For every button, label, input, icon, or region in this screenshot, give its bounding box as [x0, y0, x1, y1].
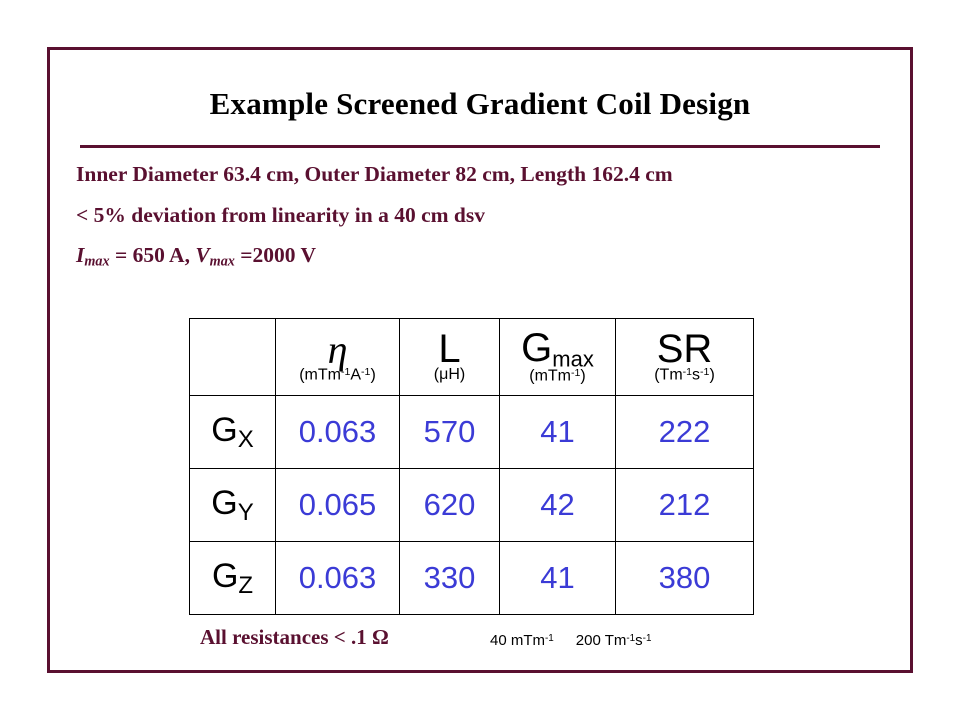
- slide-frame: Example Screened Gradient Coil Design In…: [47, 47, 913, 673]
- bullet3-i-value: = 650 A,: [110, 243, 196, 267]
- row-label-gx: GX: [190, 396, 276, 469]
- footnote-sr-value: 200 Tm: [576, 632, 627, 649]
- cell-gx-L: 570: [400, 396, 500, 469]
- spec-table: η (mTm-1A-1) L (μH) Gmax (mTm-1) SR (Tm-…: [189, 318, 754, 615]
- cell-gy-eta: 0.065: [276, 469, 400, 542]
- bullet3-v-value: =2000 V: [235, 243, 316, 267]
- bullet-item-3: Imax = 650 A, Vmax =2000 V: [76, 243, 896, 270]
- header-cell-slewrate: SR (Tm-1s-1): [616, 319, 754, 396]
- cell-gx-gmax: 41: [500, 396, 616, 469]
- bullet3-i-sub: max: [84, 254, 109, 270]
- header-units-L: (μH): [400, 367, 499, 384]
- header-cell-inductance: L (μH): [400, 319, 500, 396]
- row-label-gz: GZ: [190, 542, 276, 615]
- bullet-item-2: < 5% deviation from linearity in a 40 cm…: [76, 203, 896, 228]
- cell-gz-L: 330: [400, 542, 500, 615]
- footnote-gmax-value: 40 mTm: [490, 632, 545, 649]
- header-cell-eta: η (mTm-1A-1): [276, 319, 400, 396]
- cell-gz-gmax: 41: [500, 542, 616, 615]
- cell-gy-sr: 212: [616, 469, 754, 542]
- footnote-resistances: All resistances < .1 Ω: [200, 625, 389, 650]
- cell-gy-gmax: 42: [500, 469, 616, 542]
- header-units-G: (mTm-1): [500, 368, 615, 385]
- cell-gz-eta: 0.063: [276, 542, 400, 615]
- table-row: GZ 0.063 330 41 380: [190, 542, 754, 615]
- cell-gx-sr: 222: [616, 396, 754, 469]
- bullet3-v-symbol: V: [195, 243, 209, 267]
- page-title: Example Screened Gradient Coil Design: [50, 86, 910, 122]
- footnote-specs: 40 mTm-1200 Tm-1s-1: [490, 632, 651, 649]
- row-label-gy: GY: [190, 469, 276, 542]
- table-row: GX 0.063 570 41 222: [190, 396, 754, 469]
- header-units-SR: (Tm-1s-1): [616, 367, 753, 384]
- header-symbol-SR: SR: [657, 327, 713, 371]
- table-row: GY 0.065 620 42 212: [190, 469, 754, 542]
- cell-gx-eta: 0.063: [276, 396, 400, 469]
- header-corner-cell: [190, 319, 276, 396]
- spec-table-wrapper: η (mTm-1A-1) L (μH) Gmax (mTm-1) SR (Tm-…: [189, 318, 753, 615]
- header-symbol-L: L: [438, 327, 460, 371]
- cell-gz-sr: 380: [616, 542, 754, 615]
- header-units-eta: (mTm-1A-1): [276, 367, 399, 384]
- table-header-row: η (mTm-1A-1) L (μH) Gmax (mTm-1) SR (Tm-…: [190, 319, 754, 396]
- bullet-item-1: Inner Diameter 63.4 cm, Outer Diameter 8…: [76, 162, 896, 187]
- header-cell-gmax: Gmax (mTm-1): [500, 319, 616, 396]
- bullet3-v-sub: max: [210, 254, 235, 270]
- header-symbol-G: G: [521, 326, 552, 370]
- title-divider: [80, 145, 880, 148]
- cell-gy-L: 620: [400, 469, 500, 542]
- bullet-list: Inner Diameter 63.4 cm, Outer Diameter 8…: [76, 162, 896, 286]
